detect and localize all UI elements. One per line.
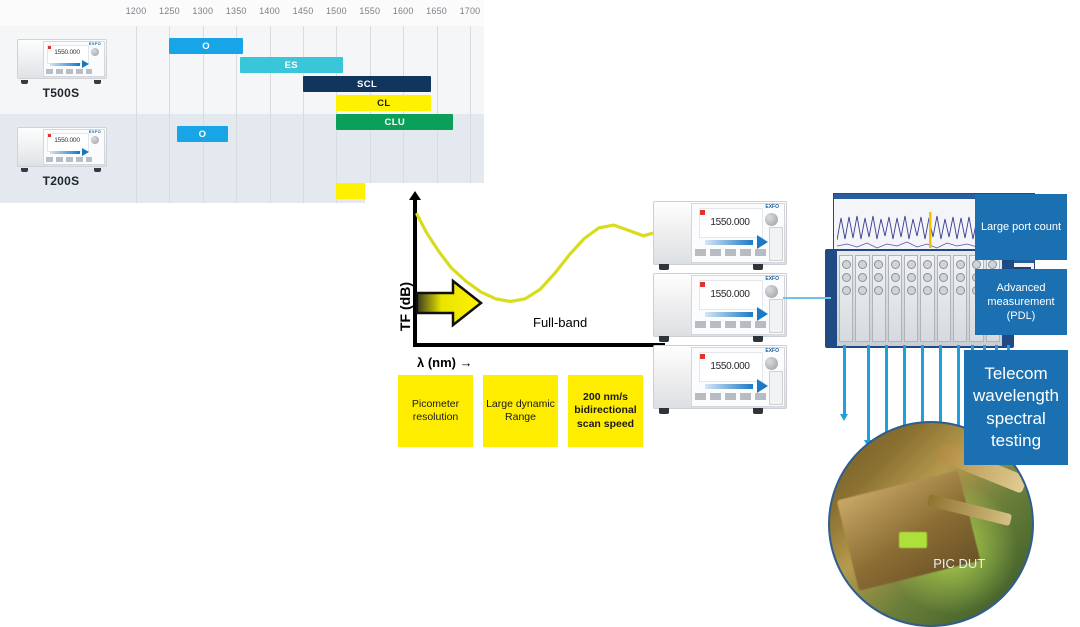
tunable-laser-illustration: 1550.000 EXFO <box>17 124 105 170</box>
device-cell-t500s: 1550.000 EXFO T500S <box>0 36 122 100</box>
wavelength-band-chart: 1200125013001350140014501500155016001650… <box>0 0 484 203</box>
solution-overview-panel: PILOT software for automation and data r… <box>495 0 1080 182</box>
band-bar-o-row1: O <box>177 126 227 142</box>
tunable-laser-unit: 1550.000 EXFO <box>653 341 785 415</box>
band-bar-scl-row0: SCL <box>303 76 431 92</box>
exfo-logo: EXFO <box>765 204 779 210</box>
axis-tick-1250: 1250 <box>159 6 180 16</box>
callout-telecom-spectral-testing: Telecom wavelength spectral testing <box>964 350 1068 465</box>
axis-tick-1700: 1700 <box>460 6 481 16</box>
callout-large-port-count: Large port count <box>975 194 1067 260</box>
axis-tick-1400: 1400 <box>259 6 280 16</box>
axis-tick-1350: 1350 <box>226 6 247 16</box>
axis-tick-1650: 1650 <box>426 6 447 16</box>
pic-dut-label: PIC DUT <box>933 556 985 571</box>
band-bar-clu-row0: CLU <box>336 114 453 130</box>
tunable-laser-unit: 1550.000 EXFO <box>653 197 785 271</box>
grid-line <box>136 26 137 203</box>
band-bar-es-row0: ES <box>240 57 344 73</box>
exfo-logo: EXFO <box>89 129 101 134</box>
tunable-laser-illustration: 1550.000 EXFO <box>17 36 105 82</box>
fiber-arrow-1 <box>843 345 846 415</box>
instrument-readout: 1550.000 <box>48 49 86 56</box>
tunable-laser-unit: 1550.000 EXFO <box>653 269 785 343</box>
device-cell-t200s: 1550.000 EXFO T200S <box>0 124 122 188</box>
feature-box-1: Picometer resolution <box>398 375 473 447</box>
instrument-readout: 1550.000 <box>699 217 761 228</box>
device-label-t500s: T500S <box>0 86 122 100</box>
feature-box-3: 200 nm/s bidirectional scan speed <box>568 375 643 447</box>
full-band-annotation: Full-band <box>533 315 587 330</box>
grid-line <box>270 26 271 203</box>
axis-tick-1550: 1550 <box>359 6 380 16</box>
grid-line <box>303 26 304 203</box>
feature-box-2: Large dynamic Range <box>483 375 558 447</box>
exfo-logo: EXFO <box>765 276 779 282</box>
grid-line <box>470 26 471 203</box>
transfer-function-chart: TF (dB) λ (nm) → Full-band <box>385 199 675 364</box>
fiber-arrow-2 <box>867 345 870 441</box>
axis-tick-1450: 1450 <box>293 6 314 16</box>
instrument-readout: 1550.000 <box>699 361 761 372</box>
dynamic-range-arrow-icon <box>415 277 485 329</box>
axis-tick-1300: 1300 <box>192 6 213 16</box>
axis-tick-1600: 1600 <box>393 6 414 16</box>
x-axis-label: λ (nm) → <box>417 355 473 370</box>
instrument-readout: 1550.000 <box>48 137 86 144</box>
spectral-testing-panel: TF (dB) λ (nm) → Full-band Picometer res… <box>365 183 1080 485</box>
exfo-logo: EXFO <box>89 41 101 46</box>
spectrum-trace <box>837 206 987 252</box>
callout-advanced-measurement: Advanced measurement (PDL) <box>975 269 1067 335</box>
axis-tick-1200: 1200 <box>126 6 147 16</box>
y-axis-label: TF (dB) <box>397 282 413 331</box>
instrument-readout: 1550.000 <box>699 289 761 300</box>
axis-tick-1500: 1500 <box>326 6 347 16</box>
exfo-logo: EXFO <box>765 348 779 354</box>
band-bar-o-row0: O <box>169 38 242 54</box>
device-label-t200s: T200S <box>0 174 122 188</box>
fiber-link-line <box>783 297 831 299</box>
band-bar-cl-row0: CL <box>336 95 431 111</box>
